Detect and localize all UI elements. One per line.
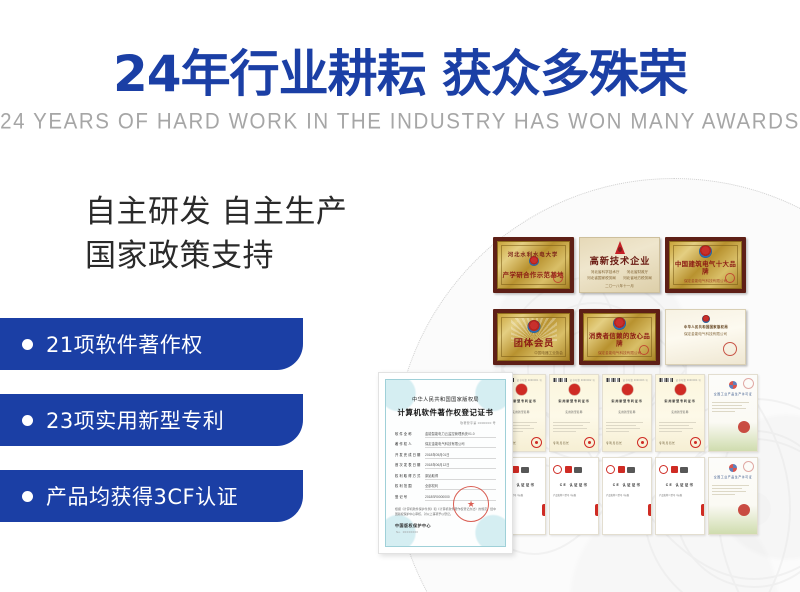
- certificate-fields: 产品名称 / 型号 / 标准: [553, 494, 595, 499]
- text-lines-placeholder: [606, 422, 648, 432]
- field-value: 原始取得: [425, 474, 496, 480]
- certificate-title: 计算机软件著作权登记证书: [395, 407, 496, 418]
- field-key: 著作权人: [395, 441, 425, 446]
- certificate-ce[interactable]: CE 认证证书 产品名称 / 型号 / 标准: [549, 457, 599, 535]
- certificate-ce[interactable]: CE 认证证书 产品名称 / 型号 / 标准: [602, 457, 652, 535]
- seal-star-icon: ★: [467, 500, 475, 509]
- bullet-icon: [22, 491, 33, 502]
- certificate-footer-number: No. 00000000: [396, 530, 418, 534]
- emblem-icon: [529, 256, 539, 266]
- certificate-code: 证书号第 0000001 号: [517, 378, 542, 382]
- national-seal-icon: [675, 384, 686, 395]
- certificate-field-row: 权利取得方式 原始取得: [395, 473, 496, 480]
- certification-logos: [659, 465, 701, 474]
- feature-list: 21项软件著作权 23项实用新型专利 产品均获得3CF认证: [0, 318, 303, 546]
- certificate-subtitle: 实用新型名称: [659, 410, 701, 414]
- seal-icon: [723, 342, 737, 356]
- iso-mark-icon: [680, 467, 688, 473]
- plaque-title: 中华人民共和国国家版权局: [683, 325, 727, 329]
- certificate-code: 证书号第 0000002 号: [570, 378, 595, 382]
- certificate-topline: 证书号第 0000002 号: [553, 378, 595, 382]
- certificate-organization: 中国版权保护中心: [395, 523, 496, 529]
- plaque-top-ten-brand[interactable]: 中国建筑电气十大品牌 保定金能电气科技有限公司: [665, 237, 746, 293]
- field-key: 登记号: [395, 494, 425, 499]
- text-lines-placeholder: [659, 422, 701, 432]
- emblem-icon: [527, 320, 540, 333]
- iso-mark-icon: [521, 467, 529, 473]
- ccc-mark-icon: [618, 466, 625, 473]
- seal-icon: [553, 273, 563, 283]
- certificate-code: 证书号第 0000003 号: [623, 378, 648, 382]
- plaque-subtitle: 中国电器工业协会: [534, 351, 563, 356]
- certificate-patent[interactable]: 证书号第 0000003 号 实用新型专利证书 实用新型名称 专利局局长: [602, 374, 652, 452]
- plaque-subtitle: 保定金能电气科技有限公司: [684, 332, 727, 337]
- corner-ring-icon: [743, 461, 754, 472]
- agency-logo-icon: [729, 381, 737, 389]
- signature-label: 专利局局长: [553, 441, 569, 445]
- emblem-icon: [702, 315, 710, 323]
- certificate-ce[interactable]: CE 认证证书 产品名称 / 型号 / 标准: [655, 457, 705, 535]
- round-seal-icon: [584, 437, 595, 448]
- field-value: 2018年06月12日: [425, 463, 496, 469]
- agency-logo-icon: [729, 464, 737, 472]
- text-lines-placeholder: [712, 402, 754, 412]
- red-tab-marker: [542, 504, 545, 516]
- bullet-icon: [22, 339, 33, 350]
- round-seal-icon: [690, 437, 701, 448]
- bullet-icon: [22, 415, 33, 426]
- plaque-title: 团体会员: [513, 339, 553, 350]
- certificate-code: 证书号第 0000004 号: [676, 378, 701, 382]
- corner-ring-icon: [743, 378, 754, 389]
- feature-item-software-copyright[interactable]: 21项软件著作权: [0, 318, 303, 370]
- certificate-footer: 专利局局长: [659, 437, 701, 448]
- ccc-mark-icon: [565, 466, 572, 473]
- feature-item-utility-patent[interactable]: 23项实用新型专利: [0, 394, 303, 446]
- certificate-title: 全国工业产品生产许可证: [712, 475, 754, 479]
- certificate-issuer: 中华人民共和国国家版权局: [395, 396, 496, 403]
- field-value: 金能智能电力云监控管理系统V1.0: [425, 432, 496, 438]
- award-plaque-grid: 河北水利水电大学 产学研合作示范基地 高新技术企业 河北省科学技术厅 河北省财政…: [493, 237, 746, 365]
- field-key: 软件全称: [395, 431, 425, 436]
- certificate-patent[interactable]: 证书号第 0000004 号 实用新型专利证书 实用新型名称 专利局局长: [655, 374, 705, 452]
- emblem-icon: [613, 317, 626, 330]
- plaque-date: 二〇一八年十一月: [605, 284, 634, 289]
- certificate-topline: 证书号第 0000004 号: [659, 378, 701, 382]
- plaque-group-member[interactable]: 团体会员 中国电器工业协会: [493, 309, 574, 365]
- feature-label: 21项软件著作权: [46, 329, 203, 359]
- certificate-title: 全国工业产品生产许可证: [712, 392, 754, 396]
- certification-logos: [553, 465, 595, 474]
- field-value: 2018年05月01日: [425, 453, 496, 459]
- certificate-grid: 证书号第 0000001 号 实用新型专利证书 实用新型名称 专利局局长 证书号…: [496, 374, 758, 535]
- seal-icon: [725, 273, 735, 283]
- iso-mark-icon: [574, 467, 582, 473]
- certificate-frame: 中华人民共和国国家版权局 计算机软件著作权登记证书 软著登字第 0000000 …: [385, 379, 506, 547]
- certificate-title: CE 认证证书: [659, 482, 701, 487]
- plaque-paper-certificate[interactable]: 中华人民共和国国家版权局 保定金能电气科技有限公司: [665, 309, 746, 365]
- feature-label: 23项实用新型专利: [46, 405, 224, 435]
- certificate-field-row: 软件全称 金能智能电力云监控管理系统V1.0: [395, 431, 496, 438]
- barcode-icon: [553, 378, 567, 382]
- plaque-high-tech-enterprise[interactable]: 高新技术企业 河北省科学技术厅 河北省财政厅 河北省国家税务局 河北省地方税务局…: [579, 237, 660, 293]
- page-title: 24年行业耕耘 获众多殊荣: [0, 48, 800, 101]
- promo-page: 24年行业耕耘 获众多殊荣 24 YEARS OF HARD WORK IN T…: [0, 0, 800, 592]
- certificate-field-row: 开发完成日期 2018年05月01日: [395, 452, 496, 459]
- plaque-subtitle: 保定金能电气科技有限公司: [684, 279, 727, 284]
- field-key: 权利范围: [395, 483, 425, 488]
- certificate-production-license[interactable]: 全国工业产品生产许可证: [708, 374, 758, 452]
- certificate-footer: 专利局局长: [553, 437, 595, 448]
- field-key: 首次发表日期: [395, 462, 425, 467]
- certification-logos: [606, 465, 648, 474]
- signature-label: 专利局局长: [659, 441, 675, 445]
- software-copyright-certificate[interactable]: 中华人民共和国国家版权局 计算机软件著作权登记证书 软著登字第 0000000 …: [378, 372, 513, 554]
- ce-mark-icon: [553, 465, 562, 474]
- text-lines-placeholder: [553, 422, 595, 432]
- plaque-subtitle: 保定金能电气科技有限公司: [598, 351, 641, 356]
- lead-line-1: 自主研发 自主生产: [85, 190, 347, 234]
- certificate-subtitle: 实用新型名称: [606, 410, 648, 414]
- certificate-field-row: 著作权人 保定金能电气科技有限公司: [395, 441, 496, 448]
- round-seal-icon: [531, 437, 542, 448]
- red-tab-marker: [648, 504, 651, 516]
- certificate-subtitle: 实用新型名称: [553, 410, 595, 414]
- national-seal-icon: [516, 384, 527, 395]
- official-seal-icon: ★: [453, 486, 489, 522]
- national-seal-icon: [569, 384, 580, 395]
- page-header: 24年行业耕耘 获众多殊荣 24 YEARS OF HARD WORK IN T…: [0, 48, 800, 134]
- national-seal-icon: [622, 384, 633, 395]
- certificate-field-row: 首次发表日期 2018年06月12日: [395, 462, 496, 469]
- seal-icon: [639, 345, 649, 355]
- certificate-title: 实用新型专利证书: [606, 398, 648, 403]
- emblem-icon: [699, 245, 712, 258]
- certificate-title: CE 认证证书: [606, 482, 648, 487]
- barcode-icon: [659, 378, 673, 382]
- signature-label: 专利局局长: [606, 441, 622, 445]
- plaque-trusted-brand[interactable]: 消费者信赖的放心品牌 保定金能电气科技有限公司: [579, 309, 660, 365]
- field-key: 开发完成日期: [395, 452, 425, 457]
- certificate-title: 实用新型专利证书: [659, 398, 701, 403]
- field-value: 保定金能电气科技有限公司: [425, 442, 496, 448]
- red-tab-marker: [701, 504, 704, 516]
- page-subtitle: 24 YEARS OF HARD WORK IN THE INDUSTRY HA…: [0, 109, 800, 134]
- plaque-subtitle: 河北省科学技术厅 河北省财政厅 河北省国家税务局 河北省地方税务局: [587, 270, 652, 281]
- certificate-production-license[interactable]: 全国工业产品生产许可证: [708, 457, 758, 535]
- red-tab-marker: [595, 504, 598, 516]
- certificate-fields: 产品名称 / 型号 / 标准: [659, 494, 701, 499]
- ce-mark-icon: [606, 465, 615, 474]
- feature-item-3cf-certification[interactable]: 产品均获得3CF认证: [0, 470, 303, 522]
- certificate-patent[interactable]: 证书号第 0000002 号 实用新型专利证书 实用新型名称 专利局局长: [549, 374, 599, 452]
- certificate-title: 实用新型专利证书: [553, 398, 595, 403]
- lead-copy: 自主研发 自主生产 国家政策支持: [85, 190, 347, 278]
- plaque-university-cooperation[interactable]: 河北水利水电大学 产学研合作示范基地: [493, 237, 574, 293]
- field-key: 权利取得方式: [395, 473, 425, 478]
- certificate-topline: 证书号第 0000003 号: [606, 378, 648, 382]
- iso-mark-icon: [627, 467, 635, 473]
- certificate-number: 软著登字第 0000000 号: [395, 421, 496, 425]
- feature-label: 产品均获得3CF认证: [46, 481, 238, 511]
- certificate-title: CE 认证证书: [553, 482, 595, 487]
- ccc-mark-icon: [671, 466, 678, 473]
- round-seal-icon: [637, 437, 648, 448]
- certificate-fields: 产品名称 / 型号 / 标准: [606, 494, 648, 499]
- ce-mark-icon: [659, 465, 668, 474]
- certificate-footer: 专利局局长: [606, 437, 648, 448]
- flame-icon: [615, 241, 625, 254]
- plaque-title: 高新技术企业: [589, 256, 650, 267]
- barcode-icon: [606, 378, 620, 382]
- text-lines-placeholder: [712, 485, 754, 495]
- round-seal-icon: [738, 421, 750, 433]
- lead-line-2: 国家政策支持: [85, 234, 347, 278]
- round-seal-icon: [738, 504, 750, 516]
